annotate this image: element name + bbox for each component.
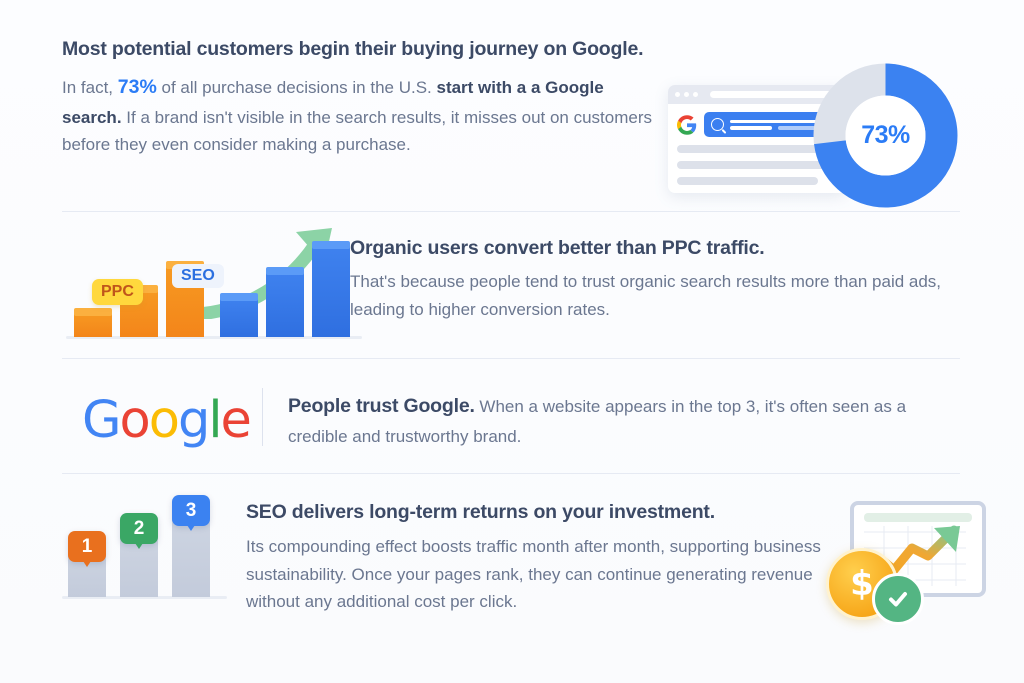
- rank-badge-3-label: 3: [186, 500, 197, 522]
- section3-title: People trust Google.: [288, 395, 475, 417]
- search-icon: [711, 118, 724, 131]
- section1-stat: 73%: [118, 76, 157, 98]
- donut-chart-value: 73%: [813, 63, 958, 208]
- google-g-icon: [677, 115, 697, 135]
- section-google-journey: Most potential customers begin their buy…: [0, 0, 1024, 211]
- ppc-badge: PPC: [92, 279, 143, 305]
- rank-badge-2: 2: [120, 513, 158, 544]
- section2-body: That's because people tend to trust orga…: [350, 268, 960, 323]
- google-logo-letter-o2: o: [149, 391, 178, 450]
- google-logo: Google: [82, 391, 250, 450]
- search-result-line: [677, 145, 831, 153]
- section1-body-part4: If a brand isn't visible in the search r…: [62, 108, 652, 155]
- google-logo-letter-o1: o: [120, 391, 149, 450]
- section-people-trust-google: Google People trust Google. When a websi…: [0, 358, 1024, 473]
- check-circle-icon: [872, 573, 924, 625]
- ppc-bar-1: [74, 312, 112, 337]
- seo-badge: SEO: [172, 264, 224, 288]
- rank-badge-2-label: 2: [134, 518, 145, 540]
- section2-title: Organic users convert better than PPC tr…: [350, 237, 765, 260]
- section1-body-bold1: start with a: [436, 78, 526, 97]
- browser-dot-1: [675, 92, 680, 97]
- browser-dot-3: [693, 92, 698, 97]
- section1-body-part2: of all purchase decisions in the U.S.: [157, 78, 437, 97]
- google-logo-letter-g2: g: [178, 391, 208, 450]
- google-logo-letter-e: e: [220, 391, 249, 450]
- seo-bar-1: [220, 297, 258, 337]
- section3-text: People trust Google. When a website appe…: [288, 391, 948, 450]
- section-organic-vs-ppc: PPC SEO Organic users convert better tha…: [0, 211, 1024, 358]
- search-result-line: [677, 177, 818, 185]
- section-seo-roi: 1 2 3 SEO delivers long-term returns on …: [0, 473, 1024, 683]
- roi-illustration: $: [820, 493, 980, 633]
- coin-symbol: $: [850, 564, 874, 604]
- donut-chart: 73%: [813, 63, 958, 208]
- infographic-canvas: Most potential customers begin their buy…: [0, 0, 1024, 683]
- section1-body: In fact, 73% of all purchase decisions i…: [62, 72, 662, 159]
- rank-badge-3: 3: [172, 495, 210, 526]
- google-logo-letter-g: G: [82, 391, 120, 450]
- vertical-divider: [262, 388, 263, 446]
- seo-bar-3: [312, 245, 350, 337]
- search-result-line: [677, 161, 831, 169]
- rank-badge-1-label: 1: [82, 536, 93, 558]
- ranking-podium: 1 2 3: [62, 491, 232, 611]
- section1-body-part1: In fact,: [62, 78, 118, 97]
- rank-badge-1: 1: [68, 531, 106, 562]
- section4-title: SEO delivers long-term returns on your i…: [246, 501, 715, 524]
- section1-title: Most potential customers begin their buy…: [62, 38, 702, 61]
- chart-header-bar: [864, 513, 972, 522]
- seo-bar-2: [266, 271, 304, 337]
- google-logo-letter-l: l: [208, 391, 220, 450]
- ppc-vs-seo-bar-chart: PPC SEO: [62, 219, 340, 351]
- section4-body: Its compounding effect boosts traffic mo…: [246, 533, 826, 616]
- browser-dot-2: [684, 92, 689, 97]
